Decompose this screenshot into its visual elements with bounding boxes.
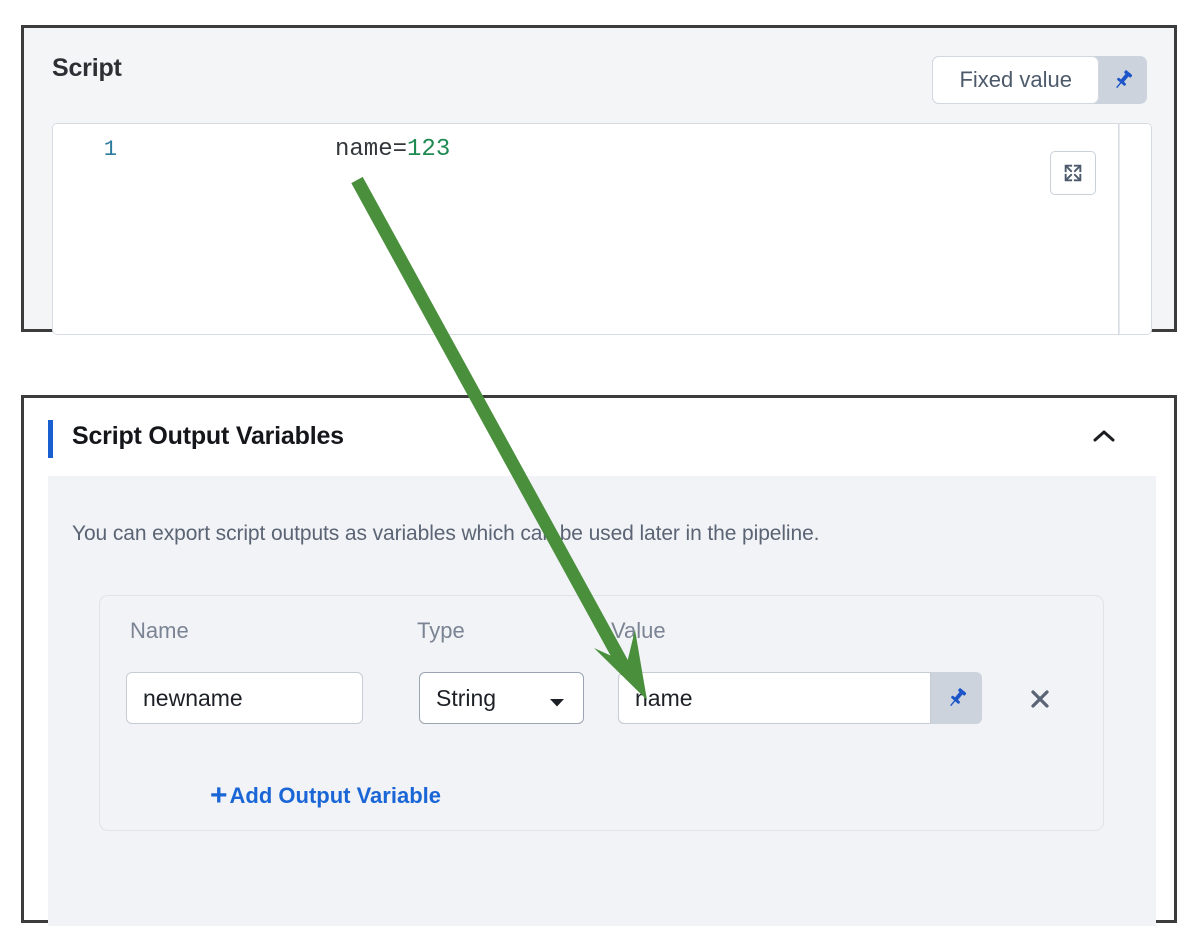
- section-body: You can export script outputs as variabl…: [48, 476, 1156, 926]
- section-title: Script Output Variables: [72, 422, 344, 451]
- column-header-value: Value: [611, 618, 666, 644]
- variable-value-input[interactable]: [618, 672, 931, 724]
- script-output-variables-panel: Script Output Variables You can export s…: [21, 395, 1177, 923]
- fixed-value-button[interactable]: Fixed value: [932, 56, 1099, 104]
- line-number: 1: [104, 137, 117, 162]
- value-type-group: Fixed value: [932, 56, 1147, 104]
- script-panel-header: Script Fixed value: [24, 28, 1174, 112]
- screenshot-root: Script Fixed value: [0, 0, 1198, 950]
- add-output-variable-label: Add Output Variable: [230, 783, 441, 809]
- editor-gutter: 1: [53, 124, 127, 334]
- section-accent-bar: [48, 420, 53, 458]
- code-token-value: 123: [407, 136, 450, 163]
- fixed-value-label: Fixed value: [959, 67, 1072, 93]
- column-header-type: Type: [417, 618, 465, 644]
- editor-divider: [1118, 124, 1119, 334]
- chevron-up-icon[interactable]: [1084, 425, 1124, 459]
- pin-icon[interactable]: [931, 672, 982, 724]
- pin-icon[interactable]: [1099, 56, 1147, 104]
- variable-name-input[interactable]: [126, 672, 363, 724]
- page-title: Script: [52, 54, 122, 83]
- variable-value-group: [618, 672, 982, 724]
- output-variables-card: Name Type Value String: [99, 595, 1104, 831]
- column-header-name: Name: [130, 618, 189, 644]
- script-panel: Script Fixed value: [21, 25, 1177, 332]
- plus-icon: +: [210, 781, 228, 811]
- close-x-icon[interactable]: [1023, 682, 1057, 716]
- code-line-1: name=123: [335, 136, 450, 163]
- code-editor[interactable]: 1 name=123: [52, 123, 1152, 335]
- section-header[interactable]: Script Output Variables: [24, 398, 1174, 476]
- code-token-assignment: name=: [335, 136, 407, 163]
- editor-minimap[interactable]: [1119, 124, 1151, 334]
- expand-fullscreen-icon[interactable]: [1050, 151, 1096, 195]
- section-description: You can export script outputs as variabl…: [72, 522, 819, 546]
- variable-type-value: String: [436, 685, 496, 712]
- add-output-variable-button[interactable]: + Add Output Variable: [210, 781, 441, 811]
- variable-type-select[interactable]: String: [419, 672, 584, 724]
- caret-down-icon: [549, 695, 565, 713]
